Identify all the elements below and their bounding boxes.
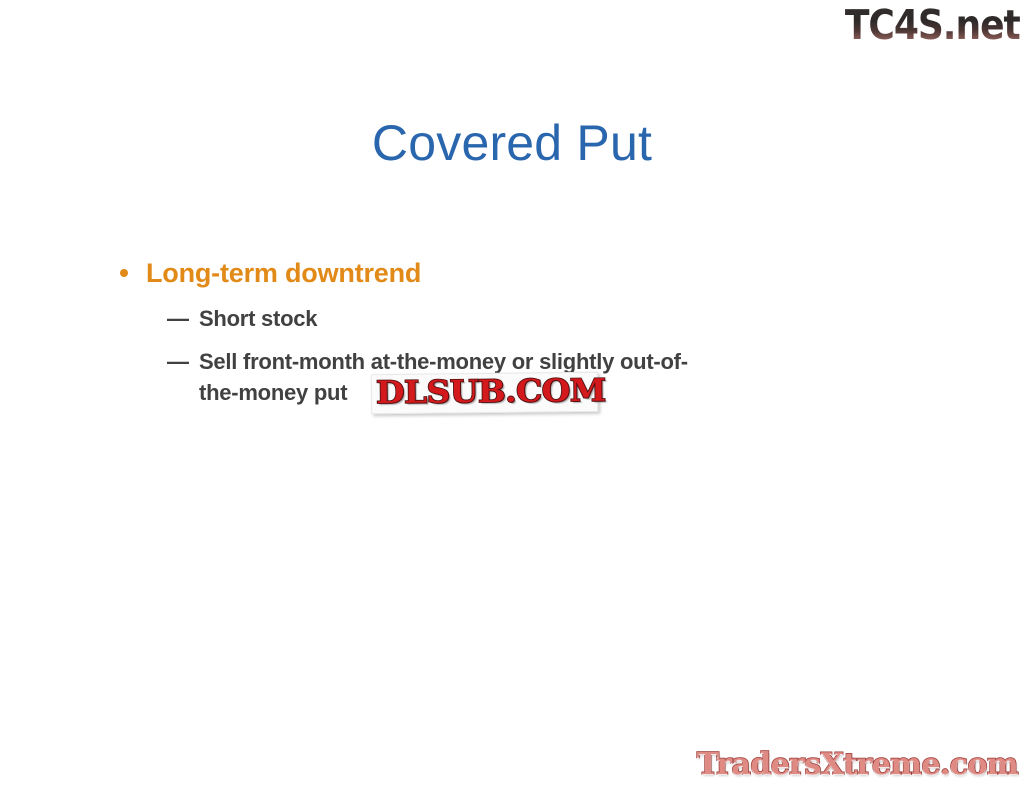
bullet-level1-label: Long-term downtrend	[146, 258, 421, 288]
tc4s-logo-text: TC4S.net	[845, 3, 1020, 47]
bullet-level1-downtrend: Long-term downtrend	[112, 255, 712, 291]
bullet-level2-short-stock: — Short stock	[112, 303, 699, 334]
bullet-dot-icon	[120, 269, 128, 277]
bullet-level2-label: Short stock	[199, 306, 317, 331]
dlsub-watermark-text: DLSUB.COM	[376, 375, 606, 410]
em-dash-icon: —	[167, 303, 198, 334]
tradersxtreme-logo-text: TradersXtreme.com	[697, 748, 1018, 782]
tradersxtreme-logo: TradersXtreme.com	[706, 745, 1018, 785]
tc4s-logo: TC4S.net	[828, 1, 1020, 49]
em-dash-icon: —	[167, 346, 198, 377]
presentation-slide: TC4S.net Covered Put Long-term downtrend…	[0, 0, 1024, 791]
dlsub-watermark: DLSUB.COM	[371, 372, 598, 414]
slide-title: Covered Put	[0, 114, 1024, 172]
